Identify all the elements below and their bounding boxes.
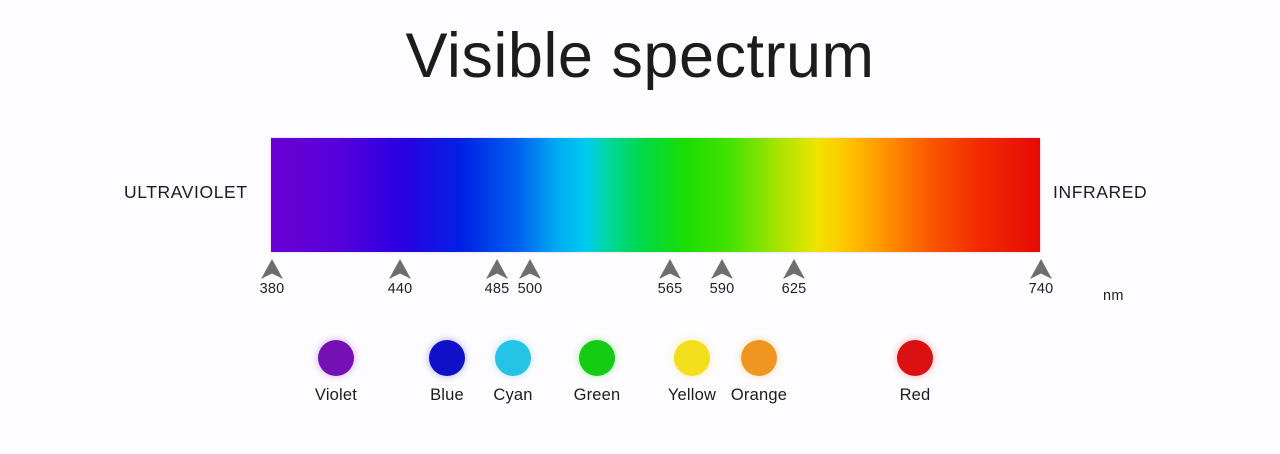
swatch-dot-green-icon — [579, 340, 615, 376]
swatch-dot-cyan-icon — [495, 340, 531, 376]
swatch-label: Orange — [699, 386, 819, 405]
swatch-dot-red-icon — [897, 340, 933, 376]
swatch-dot-violet-icon — [318, 340, 354, 376]
swatch-label: Violet — [276, 386, 396, 405]
swatch-item-orange[interactable]: Orange — [699, 340, 819, 405]
swatch-dot-orange-icon — [741, 340, 777, 376]
swatch-item-red[interactable]: Red — [855, 340, 975, 405]
color-legend: VioletBlueCyanGreenYellowOrangeRed — [0, 0, 1280, 454]
swatch-item-violet[interactable]: Violet — [276, 340, 396, 405]
swatch-label: Red — [855, 386, 975, 405]
visible-spectrum-figure: Visible spectrum ULTRAVIOLET INFRARED 38… — [0, 0, 1280, 454]
